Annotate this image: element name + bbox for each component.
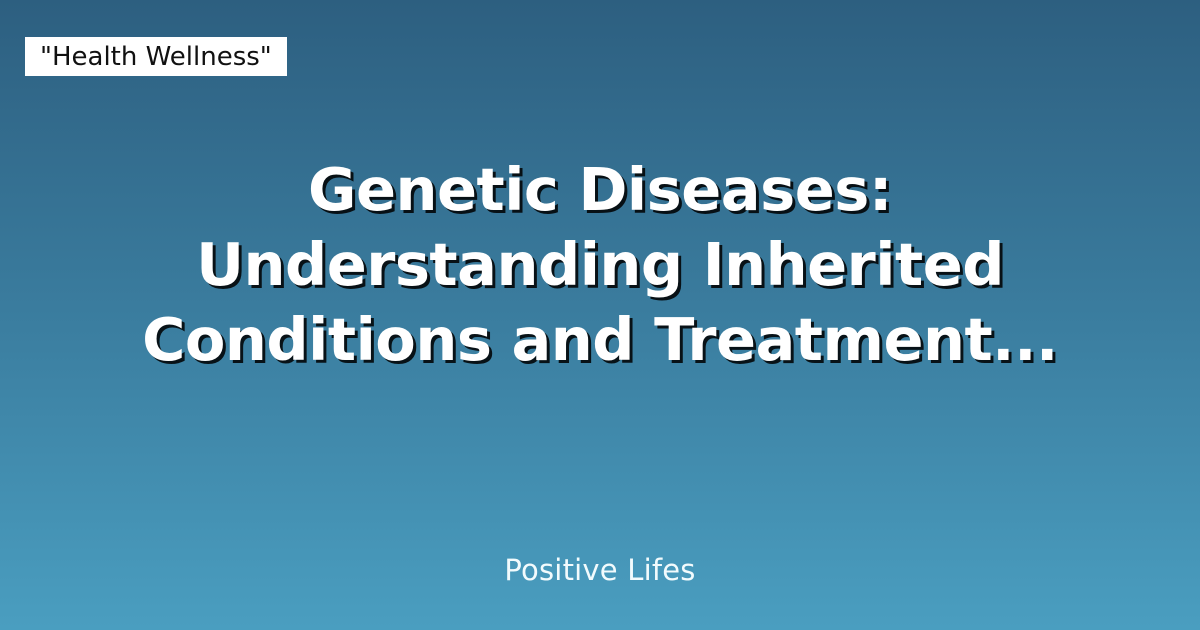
title-line-1: Genetic Diseases: <box>40 152 1160 227</box>
category-tag: "Health Wellness" <box>25 37 287 76</box>
category-tag-label: "Health Wellness" <box>40 44 272 70</box>
title-line-2: Understanding Inherited <box>40 227 1160 302</box>
title-line-3: Conditions and Treatment... <box>40 302 1160 377</box>
brand-name-label: Positive Lifes <box>504 553 695 587</box>
footer-brand: Positive Lifes <box>0 552 1200 588</box>
social-share-card: "Health Wellness" Genetic Diseases: Unde… <box>0 0 1200 630</box>
page-title: Genetic Diseases: Understanding Inherite… <box>0 152 1200 377</box>
